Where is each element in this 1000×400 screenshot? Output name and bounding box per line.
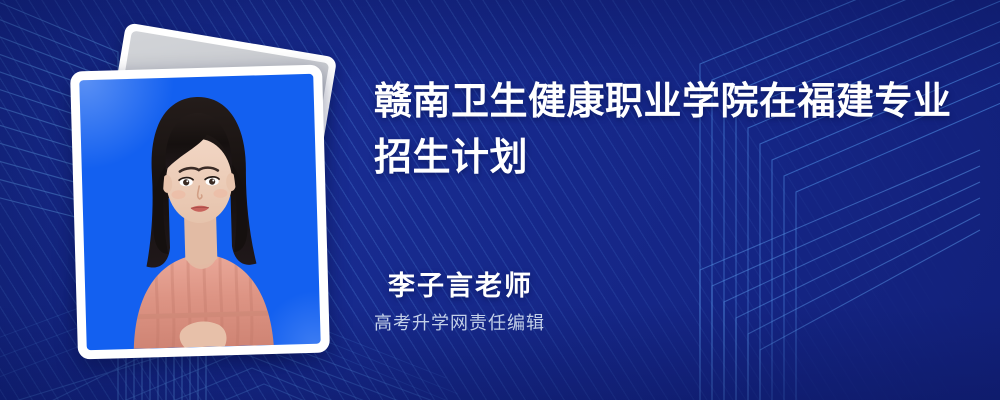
page-title: 赣南卫生健康职业学院在福建专业招生计划 (374, 74, 966, 186)
article-header-banner: 赣南卫生健康职业学院在福建专业招生计划 李子言老师 高考升学网责任编辑 (0, 0, 1000, 400)
byline: 李子言老师 高考升学网责任编辑 (388, 268, 948, 336)
portrait-illustration (79, 74, 320, 350)
banner-copy: 赣南卫生健康职业学院在福建专业招生计划 李子言老师 高考升学网责任编辑 (374, 0, 974, 400)
author-name: 李子言老师 (388, 268, 948, 304)
avatar (79, 74, 320, 350)
photo-stack (62, 34, 362, 364)
portrait-photo-card (70, 65, 330, 360)
author-role: 高考升学网责任编辑 (374, 310, 948, 336)
